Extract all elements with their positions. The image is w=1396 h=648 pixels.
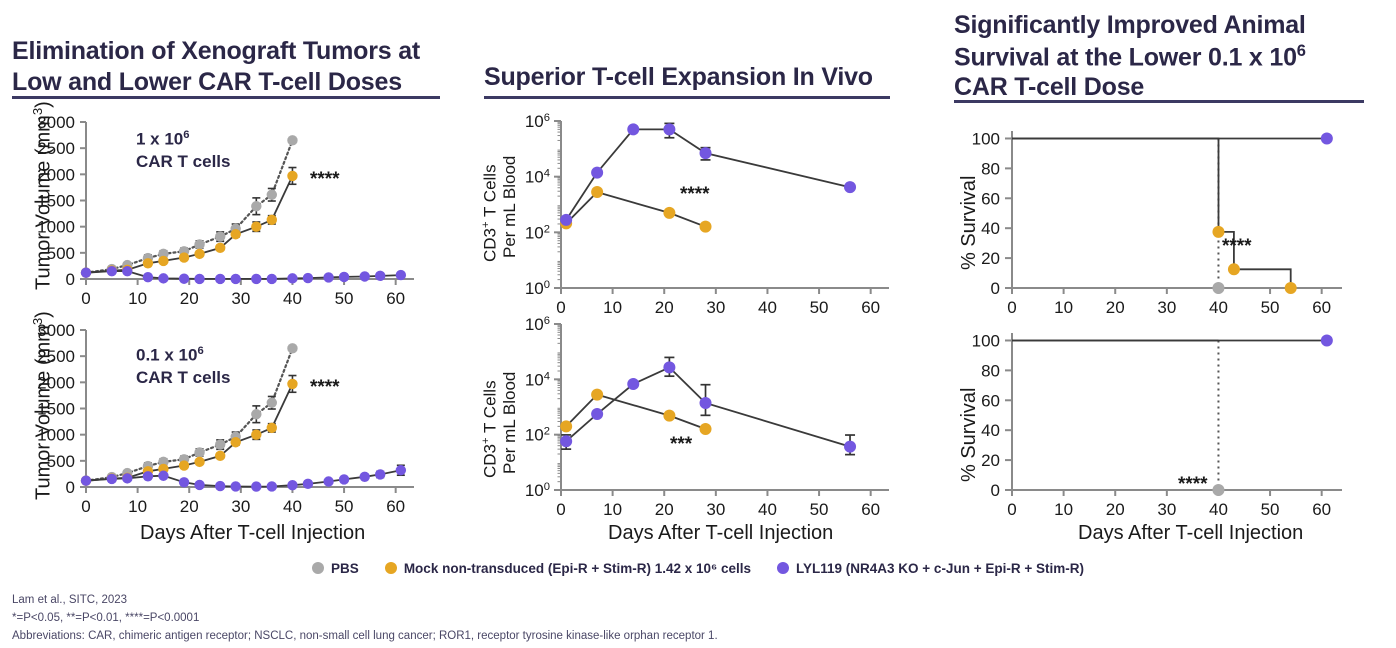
data-point-mock-non-transduced [194, 249, 204, 259]
data-point-pbs [1212, 484, 1224, 496]
data-point-lyl119 [627, 123, 639, 135]
x-tick-label-tumor-high-dose: 40 [283, 289, 302, 308]
data-point-lyl119 [591, 408, 603, 420]
y-tick-label-survival-low-dose: 0 [991, 481, 1000, 500]
x-tick-label-tumor-low-dose: 20 [180, 497, 199, 516]
data-point-pbs [194, 239, 204, 249]
x-tick-label-survival-high-dose: 20 [1106, 298, 1125, 317]
data-point-lyl119 [560, 214, 572, 226]
data-point-mock-non-transduced [251, 221, 261, 231]
data-point-lyl119 [591, 167, 603, 179]
y-axis-title-sup: 3 [30, 108, 45, 115]
legend-item-pbs: PBS [312, 561, 359, 576]
y-axis-title-close: ) [33, 311, 55, 318]
series-line-lyl119 [86, 271, 401, 279]
y-axis-title-cd3-top-l1: CD3+ T Cells [480, 164, 501, 262]
x-tick-label-expansion-high-dose: 30 [706, 298, 725, 317]
y-axis-title-text: Tumor Volume (mm [33, 115, 55, 290]
legend-marker-pbs [312, 562, 324, 574]
legend-marker-mock [385, 562, 397, 574]
x-tick-label-survival-low-dose: 20 [1106, 500, 1125, 519]
data-point-pbs [287, 135, 297, 145]
y-tick-label-expansion-high-dose: 102 [525, 223, 550, 242]
legend-label-mock: Mock non-transduced (Epi-R + Stim-R) 1.4… [404, 561, 751, 576]
x-tick-label-survival-high-dose: 40 [1209, 298, 1228, 317]
data-point-lyl119 [81, 476, 91, 486]
data-point-mock-non-transduced [215, 451, 225, 461]
x-tick-label-tumor-high-dose: 30 [231, 289, 250, 308]
data-point-lyl119 [303, 479, 313, 489]
y-tick-label-survival-high-dose: 60 [981, 189, 1000, 208]
x-tick-label-tumor-low-dose: 50 [335, 497, 354, 516]
series-line-mock-non-transduced [86, 176, 293, 273]
significance-annotation-survival-high-dose: **** [1222, 236, 1252, 257]
y-tick-label-expansion-low-dose: 104 [525, 370, 550, 389]
y-axis-title-cd3-top-l2: Per mL Blood [500, 156, 520, 258]
data-point-mock-non-transduced [267, 423, 277, 433]
legend-item-lyl119: LYL119 (NR4A3 KO + c-Jun + Epi-R + Stim-… [777, 561, 1084, 576]
data-point-lyl119 [560, 435, 572, 447]
x-tick-label-tumor-high-dose: 50 [335, 289, 354, 308]
data-point-pbs [251, 409, 261, 419]
significance-annotation-expansion-low-dose: *** [670, 434, 693, 455]
x-tick-label-survival-low-dose: 50 [1261, 500, 1280, 519]
footnotes: Lam et al., SITC, 2023 *=P<0.05, **=P<0.… [12, 592, 1382, 645]
data-point-pbs [251, 201, 261, 211]
cd3-text: CD3 [481, 444, 500, 478]
data-point-lyl119 [158, 273, 168, 283]
data-point-lyl119 [396, 465, 406, 475]
legend-label-pbs: PBS [331, 561, 359, 576]
data-point-lyl119 [287, 273, 297, 283]
cd3-sup: + [480, 221, 492, 228]
y-axis-title-close: ) [33, 101, 55, 108]
data-point-mock-non-transduced [663, 207, 675, 219]
legend-marker-lyl119 [777, 562, 789, 574]
data-point-mock-non-transduced [230, 229, 240, 239]
data-point-lyl119 [194, 274, 204, 284]
x-tick-label-expansion-high-dose: 60 [861, 298, 880, 317]
y-tick-label-survival-high-dose: 40 [981, 219, 1000, 238]
y-tick-label-expansion-low-dose: 100 [525, 481, 550, 500]
x-tick-label-survival-high-dose: 30 [1157, 298, 1176, 317]
x-tick-label-tumor-low-dose: 60 [386, 497, 405, 516]
significance-annotation-survival-low-dose: **** [1178, 474, 1208, 495]
legend-label-lyl119: LYL119 (NR4A3 KO + c-Jun + Epi-R + Stim-… [796, 561, 1084, 576]
data-point-mock-non-transduced [591, 389, 603, 401]
y-axis-title-cd3-bottom-l1: CD3+ T Cells [480, 380, 501, 478]
data-point-mock-non-transduced [194, 457, 204, 467]
x-tick-label-expansion-high-dose: 20 [655, 298, 674, 317]
data-point-lyl119 [360, 271, 370, 281]
data-point-pbs [287, 343, 297, 353]
data-point-lyl119 [251, 481, 261, 491]
x-tick-label-expansion-low-dose: 50 [810, 500, 829, 519]
y-axis-title-tumor-top: Tumor Volume (mm3) [30, 101, 56, 290]
data-point-lyl119 [143, 471, 153, 481]
x-tick-label-tumor-low-dose: 10 [128, 497, 147, 516]
series-line-lyl119 [86, 470, 401, 486]
data-point-mock-non-transduced [700, 423, 712, 435]
data-point-lyl119 [396, 270, 406, 280]
y-tick-label-tumor-low-dose: 0 [66, 478, 75, 497]
data-point-lyl119 [107, 266, 117, 276]
data-point-lyl119 [360, 472, 370, 482]
inset-label-high-dose-line1: 1 x 106 [136, 129, 190, 150]
data-point-lyl119 [230, 481, 240, 491]
data-point-lyl119 [339, 474, 349, 484]
significance-annotation-expansion-high-dose: **** [680, 184, 710, 205]
data-point-mock-non-transduced [287, 171, 297, 181]
legend: PBS Mock non-transduced (Epi-R + Stim-R)… [0, 556, 1396, 580]
y-tick-label-survival-high-dose: 0 [991, 279, 1000, 298]
data-point-lyl119 [287, 480, 297, 490]
data-point-lyl119 [158, 471, 168, 481]
data-point-lyl119 [122, 473, 132, 483]
data-point-mock-non-transduced [158, 256, 168, 266]
x-tick-label-expansion-low-dose: 60 [861, 500, 880, 519]
x-tick-label-expansion-high-dose: 0 [556, 298, 565, 317]
y-tick-label-survival-low-dose: 40 [981, 421, 1000, 440]
cd3-post: T Cells [481, 380, 500, 437]
data-point-mock-non-transduced [287, 379, 297, 389]
footnote-significance: *=P<0.05, **=P<0.01, ****=P<0.0001 [12, 610, 1382, 628]
data-point-lyl119 [215, 481, 225, 491]
significance-annotation-tumor-low-dose: **** [310, 377, 340, 398]
data-point-lyl119 [179, 477, 189, 487]
data-point-mock-non-transduced [591, 186, 603, 198]
x-tick-label-expansion-low-dose: 10 [603, 500, 622, 519]
data-point-mock-non-transduced [143, 258, 153, 268]
y-axis-title-text: Tumor Volume (mm [33, 325, 55, 500]
x-tick-label-tumor-high-dose: 0 [81, 289, 90, 308]
x-axis-title-left: Days After T-cell Injection [140, 522, 365, 545]
x-tick-label-expansion-low-dose: 30 [706, 500, 725, 519]
inset-label-low-dose-line2: CAR T cells [136, 368, 230, 388]
data-point-lyl119 [107, 474, 117, 484]
data-point-mock-non-transduced [230, 437, 240, 447]
y-axis-title-tumor-bottom: Tumor Volume (mm3) [30, 311, 56, 500]
x-tick-label-expansion-high-dose: 40 [758, 298, 777, 317]
x-tick-label-expansion-high-dose: 10 [603, 298, 622, 317]
data-point-lyl119 [700, 397, 712, 409]
x-tick-label-tumor-low-dose: 30 [231, 497, 250, 516]
y-tick-label-expansion-low-dose: 106 [525, 315, 550, 334]
y-tick-label-survival-high-dose: 80 [981, 159, 1000, 178]
footnote-citation: Lam et al., SITC, 2023 [12, 592, 1382, 610]
y-axis-title-survival-top: % Survival [958, 176, 981, 270]
data-point-lyl119 [339, 272, 349, 282]
cd3-sup: + [480, 437, 492, 444]
data-point-pbs [267, 190, 277, 200]
legend-item-mock: Mock non-transduced (Epi-R + Stim-R) 1.4… [385, 561, 751, 576]
inset-label-high-dose-line2: CAR T cells [136, 152, 230, 172]
series-line-mock-non-transduced [86, 384, 293, 481]
x-tick-label-survival-high-dose: 10 [1054, 298, 1073, 317]
data-point-mock-non-transduced [1228, 263, 1240, 275]
data-point-lyl119 [81, 268, 91, 278]
data-point-lyl119 [194, 480, 204, 490]
y-tick-label-survival-low-dose: 80 [981, 361, 1000, 380]
charts-svg-layer: 0102030405060050010001500200025003000***… [0, 0, 1396, 648]
x-tick-label-survival-high-dose: 60 [1312, 298, 1331, 317]
data-point-lyl119 [844, 181, 856, 193]
footnote-abbreviations: Abbreviations: CAR, chimeric antigen rec… [12, 628, 1382, 646]
data-point-lyl119 [844, 441, 856, 453]
significance-annotation-tumor-high-dose: **** [310, 169, 340, 190]
data-point-mock-non-transduced [215, 243, 225, 253]
data-point-lyl119 [251, 274, 261, 284]
data-point-lyl119 [267, 274, 277, 284]
y-tick-label-survival-high-dose: 20 [981, 249, 1000, 268]
x-tick-label-expansion-low-dose: 0 [556, 500, 565, 519]
y-tick-label-expansion-high-dose: 104 [525, 168, 550, 187]
data-point-lyl119 [375, 469, 385, 479]
data-point-mock-non-transduced [663, 410, 675, 422]
x-tick-label-survival-low-dose: 40 [1209, 500, 1228, 519]
x-tick-label-survival-high-dose: 50 [1261, 298, 1280, 317]
data-point-mock-non-transduced [267, 215, 277, 225]
y-tick-label-survival-low-dose: 100 [972, 331, 1000, 350]
x-tick-label-expansion-low-dose: 40 [758, 500, 777, 519]
x-tick-label-survival-low-dose: 30 [1157, 500, 1176, 519]
data-point-lyl119 [700, 147, 712, 159]
data-point-mock-non-transduced [560, 420, 572, 432]
data-point-lyl119 [663, 361, 675, 373]
x-tick-label-tumor-high-dose: 20 [180, 289, 199, 308]
data-point-lyl119 [179, 274, 189, 284]
y-axis-title-sup: 3 [30, 318, 45, 325]
x-tick-label-survival-low-dose: 60 [1312, 500, 1331, 519]
x-tick-label-tumor-high-dose: 10 [128, 289, 147, 308]
y-tick-label-expansion-high-dose: 106 [525, 112, 550, 131]
x-tick-label-expansion-low-dose: 20 [655, 500, 674, 519]
cd3-post: T Cells [481, 164, 500, 221]
x-tick-label-tumor-low-dose: 0 [81, 497, 90, 516]
y-tick-label-survival-high-dose: 100 [972, 129, 1000, 148]
x-tick-label-tumor-high-dose: 60 [386, 289, 405, 308]
data-point-lyl119 [215, 274, 225, 284]
data-point-mock-non-transduced [179, 460, 189, 470]
x-axis-title-right: Days After T-cell Injection [1078, 522, 1303, 545]
data-point-lyl119 [1321, 334, 1333, 346]
data-point-pbs [215, 439, 225, 449]
y-axis-title-cd3-bottom-l2: Per mL Blood [500, 372, 520, 474]
data-point-pbs [267, 398, 277, 408]
data-point-lyl119 [122, 266, 132, 276]
x-tick-label-survival-low-dose: 0 [1007, 500, 1016, 519]
data-point-lyl119 [303, 273, 313, 283]
data-point-lyl119 [627, 378, 639, 390]
data-point-lyl119 [267, 481, 277, 491]
data-point-pbs [1212, 282, 1224, 294]
data-point-mock-non-transduced [179, 252, 189, 262]
data-point-lyl119 [143, 272, 153, 282]
cd3-text: CD3 [481, 228, 500, 262]
series-line-lyl119 [566, 129, 850, 220]
data-point-lyl119 [375, 271, 385, 281]
y-tick-label-survival-low-dose: 60 [981, 391, 1000, 410]
data-point-lyl119 [230, 274, 240, 284]
y-tick-label-tumor-high-dose: 0 [66, 270, 75, 289]
y-tick-label-expansion-high-dose: 100 [525, 279, 550, 298]
series-line-mock-non-transduced [1012, 139, 1291, 289]
y-tick-label-survival-low-dose: 20 [981, 451, 1000, 470]
y-axis-title-survival-bottom: % Survival [958, 388, 981, 482]
data-point-lyl119 [663, 123, 675, 135]
inset-label-low-dose-line1: 0.1 x 106 [136, 345, 204, 366]
x-tick-label-tumor-low-dose: 40 [283, 497, 302, 516]
data-point-lyl119 [323, 272, 333, 282]
data-point-pbs [215, 231, 225, 241]
data-point-pbs [194, 447, 204, 457]
x-tick-label-survival-high-dose: 0 [1007, 298, 1016, 317]
x-tick-label-survival-low-dose: 10 [1054, 500, 1073, 519]
data-point-mock-non-transduced [700, 221, 712, 233]
data-point-lyl119 [1321, 132, 1333, 144]
data-point-lyl119 [323, 476, 333, 486]
y-tick-label-expansion-low-dose: 102 [525, 426, 550, 445]
data-point-mock-non-transduced [1285, 282, 1297, 294]
data-point-mock-non-transduced [251, 429, 261, 439]
x-axis-title-mid: Days After T-cell Injection [608, 522, 833, 545]
x-tick-label-expansion-high-dose: 50 [810, 298, 829, 317]
